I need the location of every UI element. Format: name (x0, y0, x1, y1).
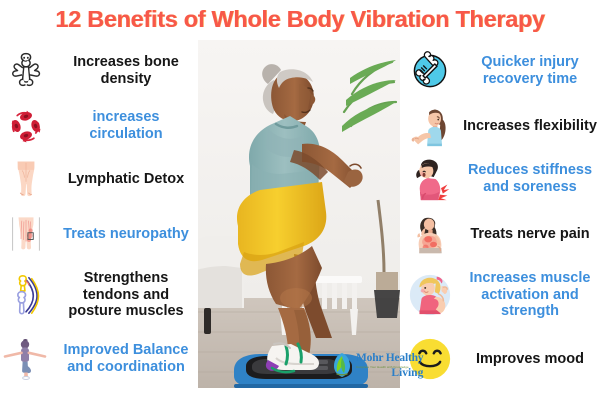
benefit-label: Increases bone density (56, 54, 196, 88)
benefit-label: Quicker injury recovery time (460, 54, 600, 88)
infographic-page: 12 Benefits of Whole Body Vibration Ther… (0, 0, 600, 400)
vibration-therapy-photo (198, 40, 400, 388)
right-benefits-column: Quicker injury recovery time (404, 42, 600, 398)
swollen-legs-icon (0, 152, 52, 206)
logo-name-line1: Mohr Healthy (356, 353, 423, 365)
benefit-label: Improves mood (460, 351, 600, 368)
logo-text-block: Mohr Healthy Complete Your Health with K… (356, 348, 423, 380)
benefit-label: Increases muscle activation and strength (460, 270, 600, 320)
benefit-item: Strengthens tendons and posture muscles (0, 262, 196, 328)
benefit-item: Increases flexibility (404, 100, 600, 152)
healing-bone-icon (404, 42, 456, 100)
brand-logo: Mohr Healthy Complete Your Health with K… (330, 348, 422, 392)
woman-flexing-bicep-icon (404, 262, 456, 328)
logo-name-line2: Living (356, 368, 423, 380)
benefit-item: increases circulation (0, 100, 196, 152)
woman-back-pain-icon (404, 152, 456, 206)
benefit-item: Reduces stiffness and soreness (404, 152, 600, 206)
benefit-item: Increases bone density (0, 42, 196, 100)
benefit-label: Strengthens tendons and posture muscles (56, 270, 196, 320)
benefit-item: Increases muscle activation and strength (404, 262, 600, 328)
benefit-label: Treats neuropathy (56, 226, 196, 243)
benefit-item: Improves mood (404, 328, 600, 390)
yoga-tree-pose-icon (0, 328, 52, 390)
benefit-label: increases circulation (56, 109, 196, 143)
flexing-bone-icon (0, 42, 52, 100)
woman-stretching-icon (404, 100, 456, 152)
benefit-label: Treats nerve pain (460, 226, 600, 243)
benefit-label: Lymphatic Detox (56, 171, 196, 188)
benefit-item: Improved Balance and coordination (0, 328, 196, 390)
benefit-label: Increases flexibility (460, 118, 600, 135)
left-benefits-column: Increases bone density (0, 42, 196, 398)
benefit-item: Lymphatic Detox (0, 152, 196, 206)
leaf-heart-logo-icon (330, 350, 354, 380)
tendon-diagram-icon (0, 262, 52, 328)
nerve-pain-back-icon (404, 206, 456, 262)
nerve-legs-icon (0, 206, 52, 262)
benefit-item: Treats nerve pain (404, 206, 600, 262)
blood-cells-circulation-icon (0, 100, 52, 152)
benefit-item: Treats neuropathy (0, 206, 196, 262)
benefit-label: Improved Balance and coordination (56, 342, 196, 376)
benefit-item: Quicker injury recovery time (404, 42, 600, 100)
benefit-label: Reduces stiffness and soreness (460, 162, 600, 196)
page-title: 12 Benefits of Whole Body Vibration Ther… (0, 6, 600, 33)
